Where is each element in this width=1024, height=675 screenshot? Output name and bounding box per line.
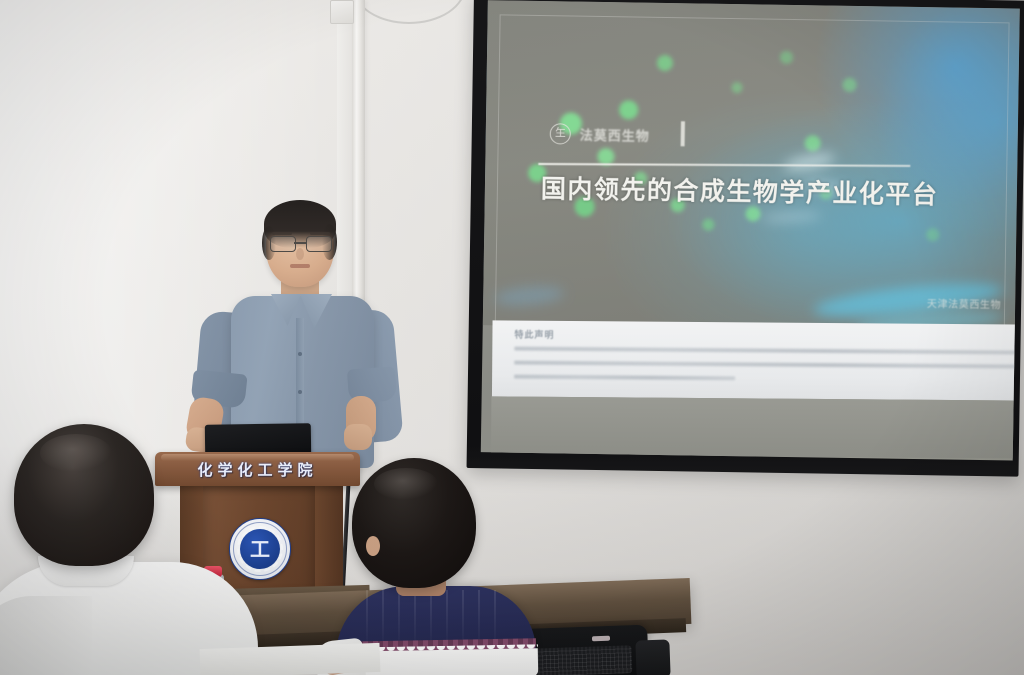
wall-fixture	[330, 0, 354, 24]
screen-surface: 玍 法莫西生物 国内领先的合成生物学产业化平台 天津法莫西生物 特此声明	[481, 0, 1020, 460]
slide-footer-band	[491, 396, 1017, 458]
filament-streak	[761, 212, 821, 223]
cell-dot	[657, 55, 673, 71]
emblem-inner-disc: 工	[240, 529, 280, 569]
podium-side-right	[315, 486, 343, 590]
cell-dot	[702, 218, 714, 230]
cell-dot	[731, 82, 742, 93]
white-shirt-shadow	[0, 596, 92, 675]
projection-screen: 玍 法莫西生物 国内领先的合成生物学产业化平台 天津法莫西生物 特此声明	[466, 0, 1024, 481]
audience2-ear	[366, 536, 380, 556]
speaker-mouth	[290, 264, 310, 268]
cell-dot	[805, 135, 821, 151]
shirt-button	[298, 352, 302, 356]
podium-sign-text: 化学化工学院	[155, 459, 360, 480]
disclaimer-text-line	[514, 361, 1020, 369]
shirt-button	[298, 390, 302, 394]
chair-label-tab	[592, 636, 610, 642]
speaker-nose	[296, 248, 304, 260]
company-logo-glyph: 玍	[555, 128, 566, 139]
speaker-hand-right	[344, 424, 372, 450]
cell-dot	[780, 50, 793, 63]
glasses-bridge	[294, 242, 306, 244]
slide-background-imagery	[483, 0, 1020, 334]
slide-divider-bar	[681, 121, 685, 146]
disclaimer-text-line	[514, 347, 1019, 355]
emblem-glyph: 工	[250, 539, 270, 559]
slide-disclaimer-panel: 特此声明	[492, 320, 1019, 400]
company-logo-text: 法莫西生物	[580, 125, 650, 145]
company-logo-icon: 玍	[550, 123, 571, 144]
slide-title: 国内领先的合成生物学产业化平台	[541, 169, 962, 212]
audience1-hair-highlight	[40, 434, 112, 472]
bioreactor-glow	[493, 284, 564, 308]
chair-armrest	[635, 639, 670, 675]
cell-dot	[843, 77, 857, 91]
cell-dot	[619, 100, 638, 119]
speaker-eyebrow-left	[272, 232, 292, 235]
cell-dot	[926, 228, 939, 241]
lecture-room-photo: 玍 法莫西生物 国内领先的合成生物学产业化平台 天津法莫西生物 特此声明	[0, 0, 1024, 675]
lens-left	[270, 236, 296, 252]
lens-right	[306, 236, 332, 252]
filament-streak	[782, 150, 836, 174]
disclaimer-heading: 特此声明	[514, 328, 554, 341]
slide-company-logo: 玍 法莫西生物	[550, 123, 650, 146]
disclaimer-text-line	[514, 375, 735, 381]
audience2-hair-highlight	[374, 468, 438, 500]
table-paper-sheet	[200, 643, 381, 675]
speaker-eyebrow-right	[310, 232, 330, 235]
university-emblem: 工	[229, 518, 291, 580]
podium-header-board: 化学化工学院	[155, 452, 360, 486]
slide-credit-line: 天津法莫西生物	[927, 295, 1001, 311]
